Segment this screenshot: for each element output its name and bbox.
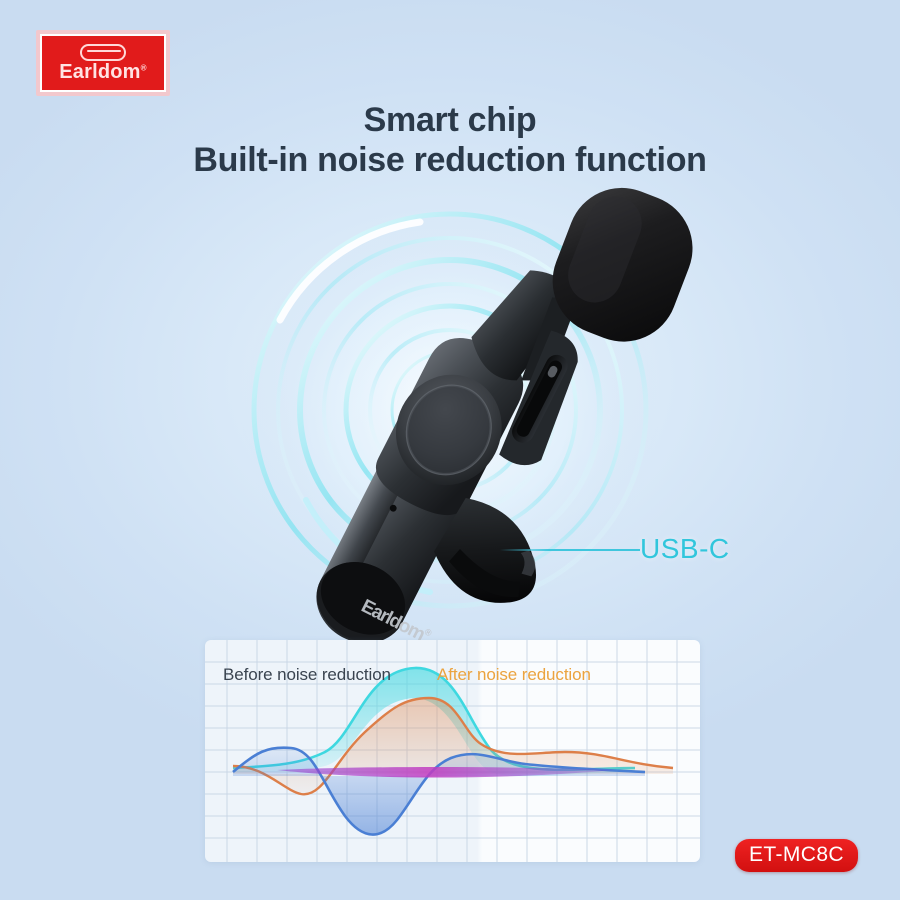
earldom-e-mark-icon [80, 44, 126, 61]
series-orange-area [233, 698, 673, 794]
headline-line-1: Smart chip [0, 100, 900, 140]
brand-logo: Earldom® [36, 30, 170, 96]
chart-legend-after: After noise reduction [437, 665, 591, 685]
noise-reduction-chart: Before noise reduction After noise reduc… [205, 640, 700, 862]
microphone-product-image: Earldom® [0, 170, 900, 640]
usb-c-label: USB-C [640, 533, 730, 565]
callout-leader-line [500, 549, 640, 551]
page-title: Smart chip Built-in noise reduction func… [0, 100, 900, 180]
chart-legend-before: Before noise reduction [223, 665, 391, 685]
brand-logo-plate: Earldom® [40, 34, 166, 92]
usb-c-callout: USB-C [640, 533, 730, 565]
brand-trademark: ® [141, 63, 147, 72]
product-marketing-page: Earldom® Smart chip Built-in noise reduc… [0, 0, 900, 900]
model-badge: ET-MC8C [735, 839, 858, 872]
product-hero: Earldom® USB-C [0, 170, 900, 640]
brand-logo-text: Earldom® [59, 62, 147, 82]
